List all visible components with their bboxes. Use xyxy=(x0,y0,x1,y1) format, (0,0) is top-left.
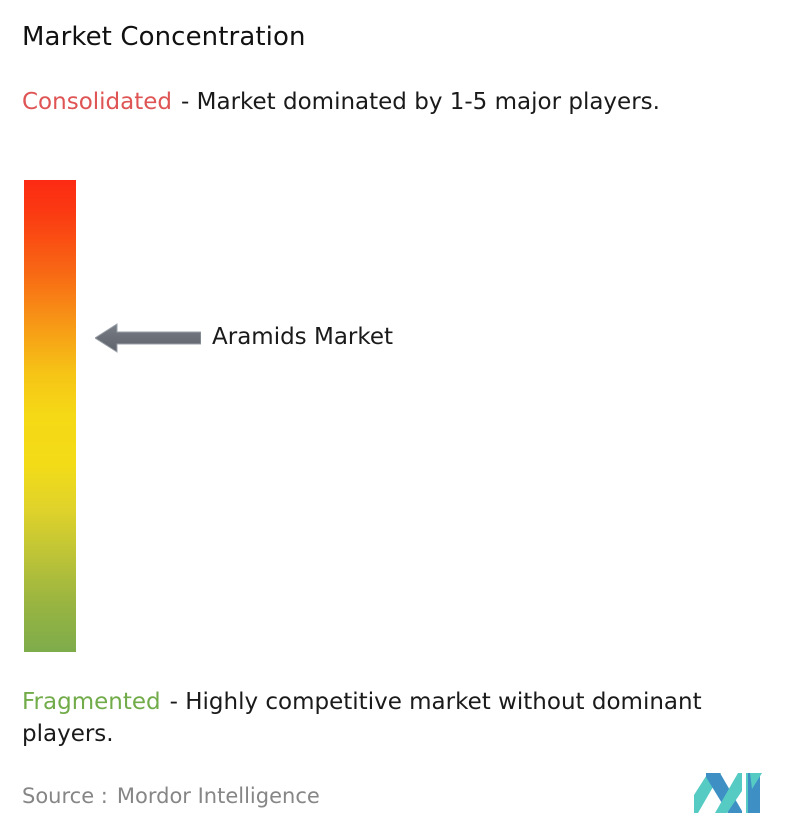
consolidated-legend: Consolidated- Market dominated by 1-5 ma… xyxy=(22,86,778,118)
mordor-intelligence-logo xyxy=(694,769,766,817)
fragmented-legend: Fragmented- Highly competitive market wi… xyxy=(22,686,794,750)
concentration-gradient-bar xyxy=(24,180,76,652)
source-label: Source : xyxy=(22,784,108,808)
source-line: Source :Mordor Intelligence xyxy=(22,782,320,810)
page-title: Market Concentration xyxy=(22,20,306,54)
source-value: Mordor Intelligence xyxy=(117,784,320,808)
fragmented-term: Fragmented xyxy=(22,689,161,715)
market-concentration-figure: Market Concentration Consolidated- Marke… xyxy=(0,0,796,834)
arrow-left-icon xyxy=(95,322,201,354)
consolidated-description: - Market dominated by 1-5 major players. xyxy=(181,89,660,115)
consolidated-term: Consolidated xyxy=(22,89,172,115)
market-marker-label: Aramids Market xyxy=(212,322,393,353)
